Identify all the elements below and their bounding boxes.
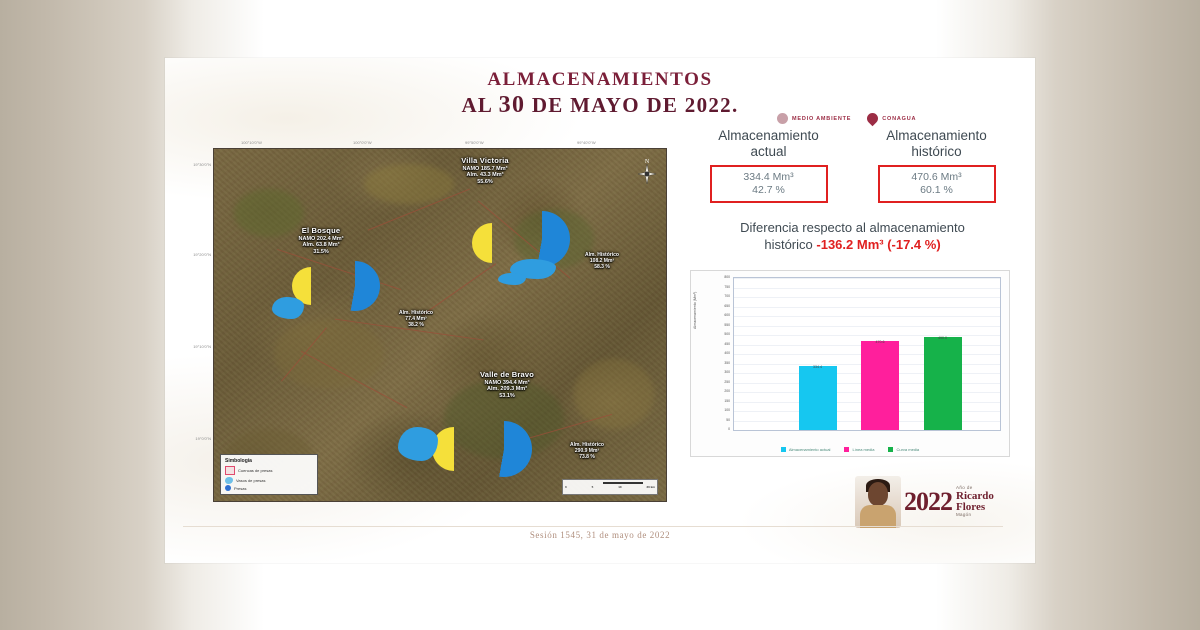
stat-value-box: 470.6 Mm³ 60.1 % [878,165,996,203]
reservoir-name: El Bosque [256,227,386,236]
simbologia-item: Cuencas de presas [225,466,313,475]
terrain-blob [274,319,384,389]
chart-y-tick: 200 [724,389,730,393]
badge-line2: Ricardo Flores [956,491,1025,513]
map-tick-left-2: 19°10'0"N [193,344,211,349]
stat-title-line2: actual [690,144,848,160]
chart-y-tick: 100 [724,408,730,412]
chart-y-tick: 50 [726,418,730,422]
reservoir-pct: 31.5% [256,249,386,255]
stat-value-box: 334.4 Mm³ 42.7 % [710,165,828,203]
chart-legend-item[interactable]: Línea media [844,447,874,452]
chart-y-tick: 350 [724,361,730,365]
reservoir-pie-valle-de-bravo-historic [476,421,532,477]
reservoir-name: Villa Victoria [410,157,560,166]
svg-text:N: N [645,159,650,165]
medio-ambiente-label: MEDIO AMBIENTE [792,116,851,122]
reservoir-pie-villa-victoria [472,223,512,263]
map-label-villa-victoria: Villa Victoria NAMO 185.7 Mm³ Alm. 43.3 … [410,157,560,185]
chart-legend-swatch [844,447,849,452]
stat-percent: 60.1 % [882,184,992,197]
chart-bar-fill [799,366,837,430]
basin-swatch-icon [225,466,235,475]
reservoir-pie-valle-de-bravo [432,427,476,471]
compass-rose-icon: N [636,155,658,185]
chart-legend-item[interactable]: Curva media [888,447,919,452]
chart-bar-fill [861,341,899,430]
storage-bar-chart[interactable]: Almacenamiento (Mm³) 8007507006506005505… [690,270,1010,457]
reservoir-pie-el-bosque-historic [330,261,380,311]
badge-year: 2022 [904,487,952,517]
scale-bar-numbers: 0 5 10 20 km [565,485,655,489]
stat-volume: 334.4 Mm³ [714,171,824,184]
simbologia-label-2: Presas [234,486,246,491]
dam-point-icon [225,485,231,491]
reservoir-pct: 55.6% [410,179,560,185]
difference-line2: histórico -136.2 Mm³ (-17.4 %) [685,236,1020,253]
stat-volume: 470.6 Mm³ [882,171,992,184]
chart-y-tick: 650 [724,304,730,308]
stat-title: Almacenamiento histórico [858,128,1016,160]
eagle-seal-icon [777,113,788,124]
institution-logos: MEDIO AMBIENTE CONAGUA [777,113,916,124]
scale-num-0: 0 [565,485,567,489]
portrait-body [860,505,896,528]
reservoir-swatch-icon [225,477,233,484]
badge-line3: Magón [956,513,1025,518]
reservoir-pct: 53.1% [432,393,582,399]
stat-almacenamiento-historico: Almacenamiento histórico 470.6 Mm³ 60.1 … [858,128,1016,203]
footer-session-text: Sesión 1545, 31 de mayo de 2022 [165,530,1035,540]
map-tick-top-0: 100°10'0"W [241,140,262,145]
stat-percent: 42.7 % [714,184,824,197]
difference-line1: Diferencia respecto al almacenamiento [685,219,1020,236]
chart-legend-swatch [781,447,786,452]
chart-bar[interactable]: 470.6 [861,341,899,430]
reservoir-lake-villa-victoria-2 [498,273,526,285]
water-drop-icon [865,111,881,127]
chart-y-tick: 550 [724,323,730,327]
scale-bar-segments [563,480,657,484]
map-panel: 100°10'0"W 100°0'0"W 99°50'0"W 99°40'0"W… [183,136,673,516]
scale-num-2: 10 [618,485,621,489]
chart-y-tick: 600 [724,313,730,317]
simbologia-label-1: Vasos de presas [236,478,266,483]
chart-bar-value-label: 470.6 [861,340,899,344]
chart-y-tick: 150 [724,399,730,403]
chart-y-tick: 750 [724,285,730,289]
portrait-head [868,482,888,506]
screenshot-stage: ALMACENAMIENTOS AL 30 DE MAYO DE 2022. M… [0,0,1200,630]
map-left-coordinate-ticks: 19°30'0"N 19°20'0"N 19°10'0"N 19°0'0"N [183,148,213,500]
chart-legend-label: Almacenamiento actual [789,447,831,452]
slide-title: ALMACENAMIENTOS AL 30 DE MAYO DE 2022. [165,70,1035,118]
chart-legend-label: Curva media [896,447,919,452]
storage-stat-row: Almacenamiento actual 334.4 Mm³ 42.7 % A… [685,128,1020,203]
map-top-coordinate-ticks: 100°10'0"W 100°0'0"W 99°50'0"W 99°40'0"W [213,136,668,148]
stat-title: Almacenamiento actual [690,128,848,160]
difference-value: -136.2 Mm³ (-17.4 %) [816,237,940,252]
chart-y-tick: 400 [724,351,730,355]
reservoir-lake-valle-de-bravo [398,427,438,461]
title-date-rest: DE MAYO DE 2022. [532,93,739,117]
chart-legend-label: Línea media [852,447,874,452]
slide-sheet: ALMACENAMIENTOS AL 30 DE MAYO DE 2022. M… [165,58,1035,563]
simbologia-item: Presas [225,485,313,491]
conagua-logo: CONAGUA [867,113,916,124]
historic-pct: 58.3 % [562,265,642,271]
chart-y-tick: 800 [724,275,730,279]
difference-label: histórico [764,237,812,252]
stat-title-line1: Almacenamiento [858,128,1016,144]
map-scale-bar: 0 5 10 20 km [562,479,658,495]
map-label-historic-villa-victoria: Alm. Histórico 108.2 Mm³ 58.3 % [562,253,642,271]
chart-y-tick: 300 [724,370,730,374]
title-day: 30 [499,92,526,118]
map-label-historic-valle-de-bravo: Alm. Histórico 290.9 Mm³ 73.8 % [544,443,630,461]
simbologia-label-0: Cuencas de presas [238,468,272,473]
chart-legend-swatch [888,447,893,452]
title-line-1: ALMACENAMIENTOS [165,70,1035,90]
chart-y-tick: 700 [724,294,730,298]
stat-title-line2: histórico [858,144,1016,160]
stat-almacenamiento-actual: Almacenamiento actual 334.4 Mm³ 42.7 % [690,128,848,203]
chart-y-axis-label: Almacenamiento (Mm³) [693,292,697,329]
chart-plot-area: 334.4470.6490.0 [733,277,1001,431]
chart-y-tick: 450 [724,342,730,346]
map-tick-left-3: 19°0'0"N [195,436,211,441]
chart-bar-value-label: 490.0 [924,336,962,340]
chart-bar-value-label: 334.4 [799,365,837,369]
chart-bars: 334.4470.6490.0 [734,278,1000,430]
reservoir-name: Valle de Bravo [432,371,582,380]
simbologia-title: Simbología [225,458,313,464]
chart-bar-fill [924,337,962,430]
footer-divider [183,526,1003,527]
reservoir-lake-el-bosque [272,297,304,319]
map-tick-top-3: 99°40'0"W [577,140,596,145]
statistics-panel: Almacenamiento actual 334.4 Mm³ 42.7 % A… [685,128,1020,253]
historic-pct: 38.2 % [376,323,456,329]
simbologia-item: Vasos de presas [225,477,313,484]
chart-legend: Almacenamiento actualLínea mediaCurva me… [691,447,1009,452]
map-label-historic-el-bosque: Alm. Histórico 77.4 Mm³ 38.2 % [376,311,456,329]
chart-bar[interactable]: 334.4 [799,366,837,430]
stat-title-line1: Almacenamiento [690,128,848,144]
chart-y-axis-ticks: 8007507006506005505004504003503002502001… [703,277,731,429]
ricardo-flores-magon-portrait [855,476,901,528]
medio-ambiente-logo: MEDIO AMBIENTE [777,113,851,124]
satellite-map[interactable]: Villa Victoria NAMO 185.7 Mm³ Alm. 43.3 … [213,148,667,502]
map-tick-left-1: 19°20'0"N [193,252,211,257]
year-badge-2022: 2022 Año de Ricardo Flores Magón [855,476,1025,528]
terrain-blob [574,359,654,429]
chart-y-tick: 500 [724,332,730,336]
difference-statement: Diferencia respecto al almacenamiento hi… [685,219,1020,253]
badge-caption: Año de Ricardo Flores Magón [956,486,1025,517]
map-tick-top-2: 99°50'0"W [465,140,484,145]
map-tick-top-1: 100°0'0"W [353,140,372,145]
map-label-valle-de-bravo: Valle de Bravo NAMO 394.4 Mm³ Alm. 209.3… [432,371,582,399]
title-al: AL [461,93,492,117]
chart-legend-item[interactable]: Almacenamiento actual [781,447,831,452]
scale-num-3: 20 km [646,485,655,489]
historic-pct: 73.8 % [544,455,630,461]
chart-gridline [734,430,1000,431]
scale-num-1: 5 [592,485,594,489]
chart-y-tick: 250 [724,380,730,384]
chart-y-tick: 0 [728,427,730,431]
chart-bar[interactable]: 490.0 [924,337,962,430]
conagua-label: CONAGUA [882,116,916,122]
map-legend-simbologia: Simbología Cuencas de presas Vasos de pr… [220,454,318,495]
map-label-el-bosque: El Bosque NAMO 202.4 Mm³ Alm. 63.8 Mm³ 3… [256,227,386,255]
map-tick-left-0: 19°30'0"N [193,162,211,167]
